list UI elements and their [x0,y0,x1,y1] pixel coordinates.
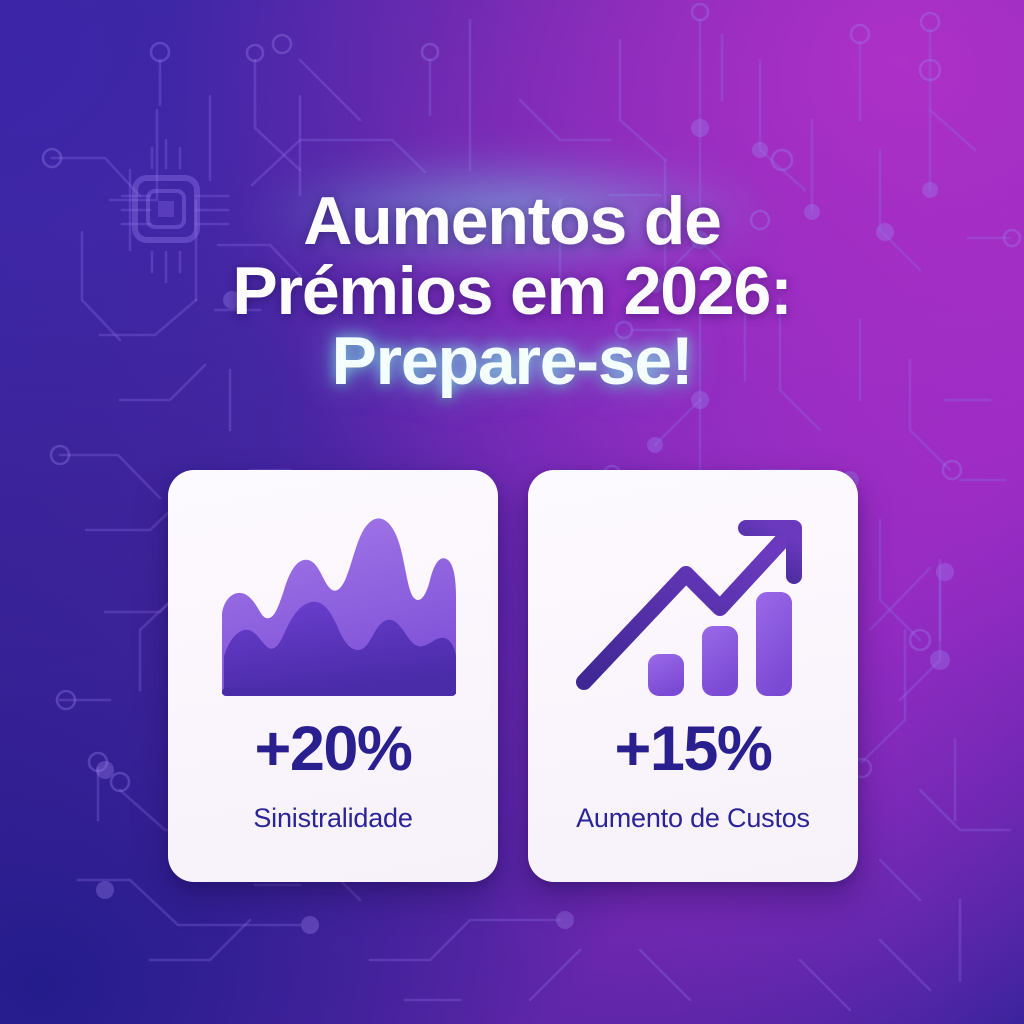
title-line-2: Prémios em 2026: [0,256,1024,326]
title-line-1: Aumentos de [0,186,1024,256]
page-title: Aumentos de Prémios em 2026: Prepare-se! [0,186,1024,396]
metric-value: +20% [255,718,412,781]
metric-value: +15% [615,718,772,781]
stat-card-aumento-de-custos[interactable]: +15% Aumento de Custos [528,470,858,882]
stat-card-group: +20% Sinistralidade [168,470,858,882]
bar-large [756,592,792,696]
metric-caption: Aumento de Custos [576,803,810,834]
bar-medium [702,626,738,696]
poster-canvas: Aumentos de Prémios em 2026: Prepare-se! [0,0,1024,1024]
bar-small [648,654,684,696]
growth-arrow-bars-icon [568,504,818,704]
metric-caption: Sinistralidade [253,803,412,834]
stat-card-sinistralidade[interactable]: +20% Sinistralidade [168,470,498,882]
title-line-3: Prepare-se! [0,326,1024,396]
area-chart-icon [208,504,458,704]
